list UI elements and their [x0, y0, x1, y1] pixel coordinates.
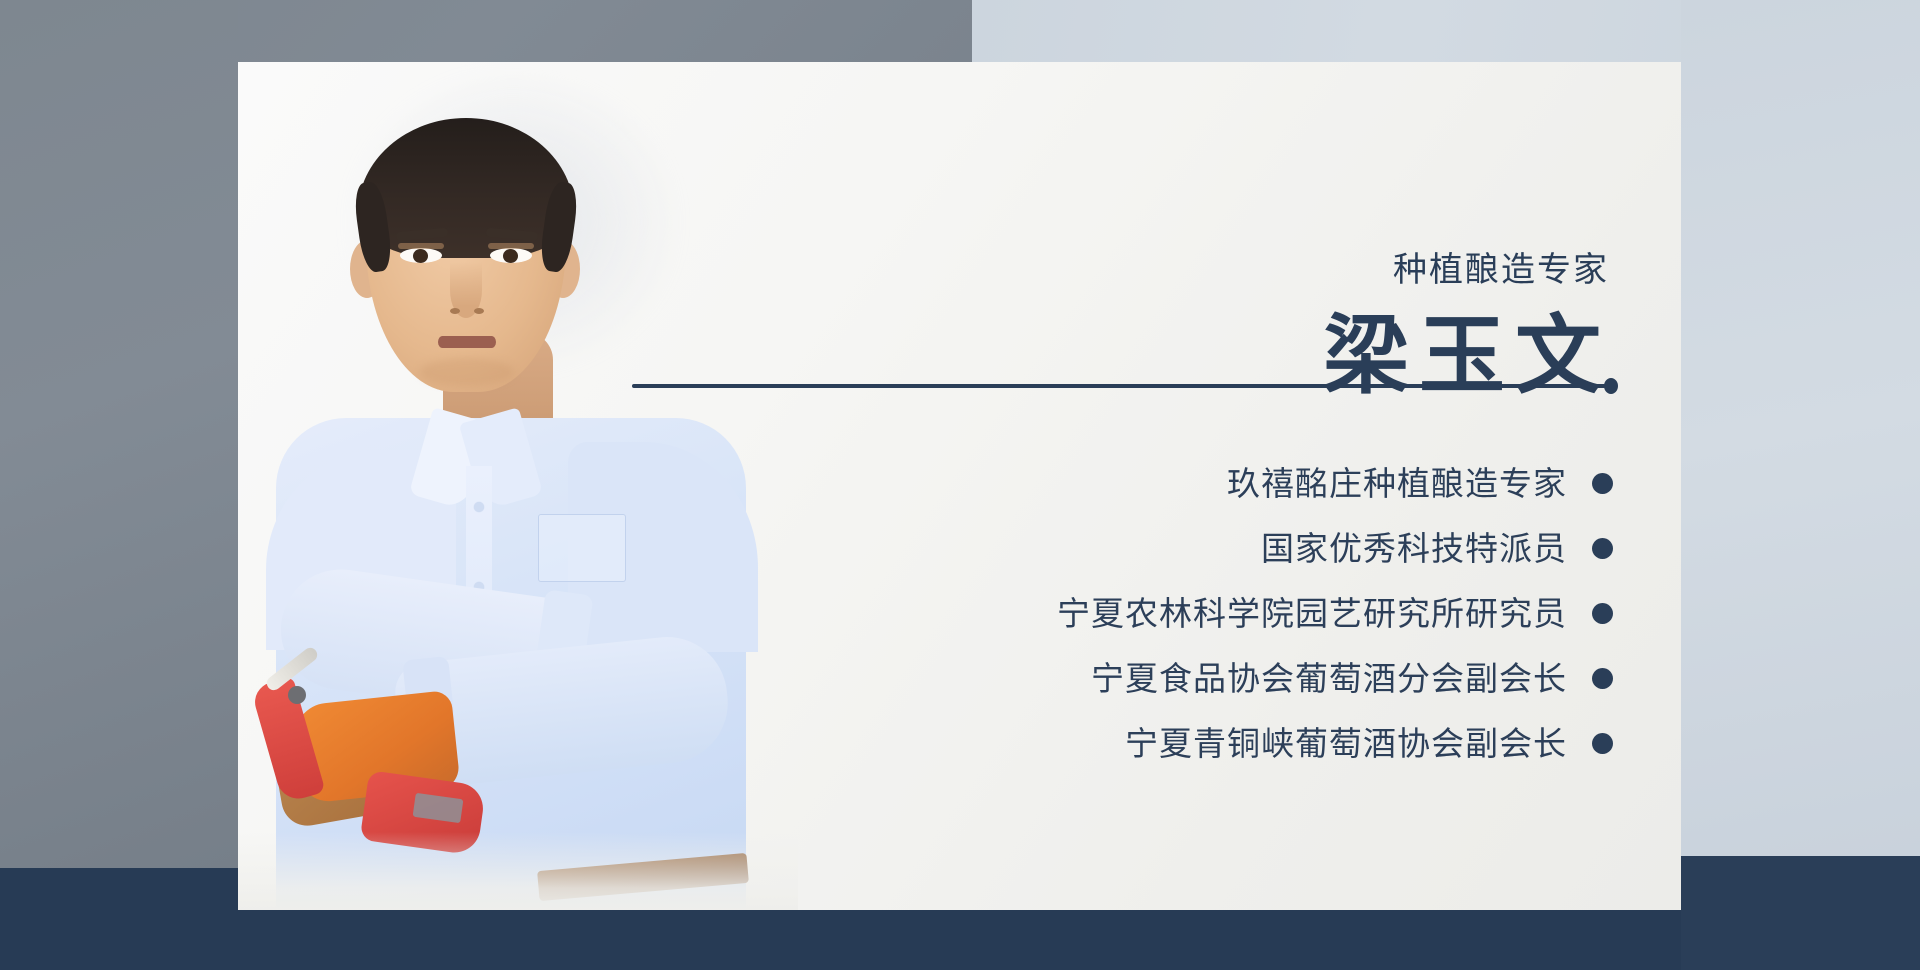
list-item: 国家优秀科技特派员: [1261, 521, 1613, 575]
portrait-shirt-pocket: [538, 514, 626, 582]
portrait-eye-left: [400, 248, 442, 263]
bullet-dot-icon: [1592, 473, 1613, 494]
divider-end-dot: [1604, 378, 1618, 394]
background-block-gray-left: [0, 0, 238, 868]
profile-card: 种植酿造专家 梁玉文 玖禧酩庄种植酿造专家 国家优秀科技特派员 宁夏农林科学院园…: [238, 62, 1681, 910]
portrait-iris-right: [503, 249, 518, 263]
expert-name-title: 梁玉文: [1323, 308, 1611, 404]
portrait-shirt-button: [474, 502, 484, 512]
poster-canvas: 种植酿造专家 梁玉文 玖禧酩庄种植酿造专家 国家优秀科技特派员 宁夏农林科学院园…: [0, 0, 1920, 970]
portrait-chin-shadow: [420, 358, 514, 386]
portrait-iris-left: [413, 249, 428, 263]
background-block-blue-right: [1681, 0, 1920, 856]
portrait-eye-right: [490, 248, 532, 263]
bullet-dot-icon: [1592, 733, 1613, 754]
list-item: 玖禧酩庄种植酿造专家: [1227, 456, 1613, 510]
expert-role-subtitle: 种植酿造专家: [1393, 252, 1609, 289]
portrait-eyelid-left: [398, 243, 444, 249]
pruning-shears-pivot: [288, 686, 306, 704]
list-item: 宁夏青铜峡葡萄酒协会副会长: [1125, 716, 1613, 770]
credential-label: 国家优秀科技特派员: [1261, 532, 1567, 565]
credential-label: 宁夏青铜峡葡萄酒协会副会长: [1125, 727, 1567, 760]
portrait-nostril-left: [450, 308, 460, 314]
credential-label: 宁夏食品协会葡萄酒分会副会长: [1091, 662, 1567, 695]
bullet-dot-icon: [1592, 668, 1613, 689]
portrait-bottom-fade: [238, 832, 798, 910]
bullet-dot-icon: [1592, 538, 1613, 559]
horizontal-divider: [632, 384, 1612, 388]
credential-label: 玖禧酩庄种植酿造专家: [1227, 467, 1567, 500]
portrait-nostril-right: [474, 308, 484, 314]
list-item: 宁夏食品协会葡萄酒分会副会长: [1091, 651, 1613, 705]
portrait-eyelid-right: [488, 243, 534, 249]
expert-portrait-photo: [238, 62, 798, 910]
background-block-navy-right: [1681, 856, 1920, 970]
credentials-list: 玖禧酩庄种植酿造专家 国家优秀科技特派员 宁夏农林科学院园艺研究所研究员 宁夏食…: [853, 456, 1613, 770]
portrait-mouth: [438, 336, 496, 348]
bullet-dot-icon: [1592, 603, 1613, 624]
credential-label: 宁夏农林科学院园艺研究所研究员: [1057, 597, 1567, 630]
list-item: 宁夏农林科学院园艺研究所研究员: [1057, 586, 1613, 640]
